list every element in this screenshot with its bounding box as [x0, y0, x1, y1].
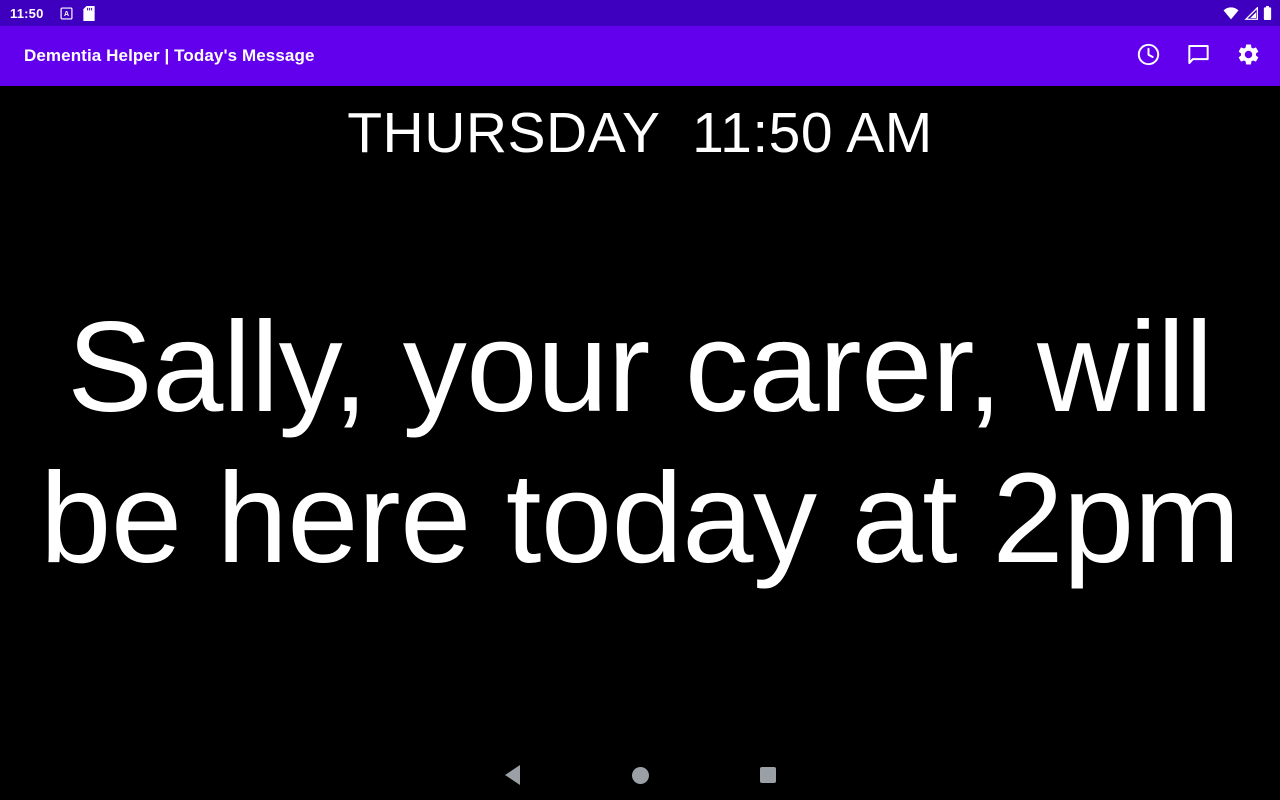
android-navigation-bar	[0, 750, 1280, 800]
app-bar: Dementia Helper | Today's Message	[0, 26, 1280, 86]
main-content: THURSDAY 11:50 AM Sally, your carer, wil…	[0, 86, 1280, 800]
cellular-signal-icon	[1244, 7, 1258, 20]
letter-a-box-icon: A	[60, 7, 73, 20]
sd-card-icon	[83, 6, 95, 21]
clock-icon-button[interactable]	[1130, 38, 1166, 74]
nav-back-button[interactable]	[448, 750, 576, 800]
android-status-bar: 11:50 A	[0, 0, 1280, 26]
message-icon-button[interactable]	[1180, 38, 1216, 74]
status-bar-clock: 11:50	[10, 7, 44, 20]
app-bar-actions	[1130, 38, 1266, 74]
todays-message-text: Sally, your carer, will be here today at…	[18, 292, 1262, 594]
home-circle-icon	[632, 767, 649, 784]
svg-text:A: A	[64, 11, 69, 18]
message-icon	[1186, 42, 1211, 70]
app-root: 11:50 A	[0, 0, 1280, 800]
wifi-icon	[1223, 7, 1239, 20]
back-triangle-icon	[505, 765, 520, 785]
battery-icon	[1263, 6, 1272, 20]
settings-gear-icon-button[interactable]	[1230, 38, 1266, 74]
settings-gear-icon	[1236, 42, 1261, 70]
status-bar-notification-icons: A	[60, 6, 95, 21]
app-bar-title: Dementia Helper | Today's Message	[24, 46, 315, 66]
message-container: Sally, your carer, will be here today at…	[0, 164, 1280, 800]
datetime-header: THURSDAY 11:50 AM	[347, 104, 933, 164]
recents-square-icon	[760, 767, 776, 783]
clock-icon	[1136, 42, 1161, 70]
nav-recents-button[interactable]	[704, 750, 832, 800]
status-bar-system-icons	[1223, 6, 1272, 20]
nav-home-button[interactable]	[576, 750, 704, 800]
